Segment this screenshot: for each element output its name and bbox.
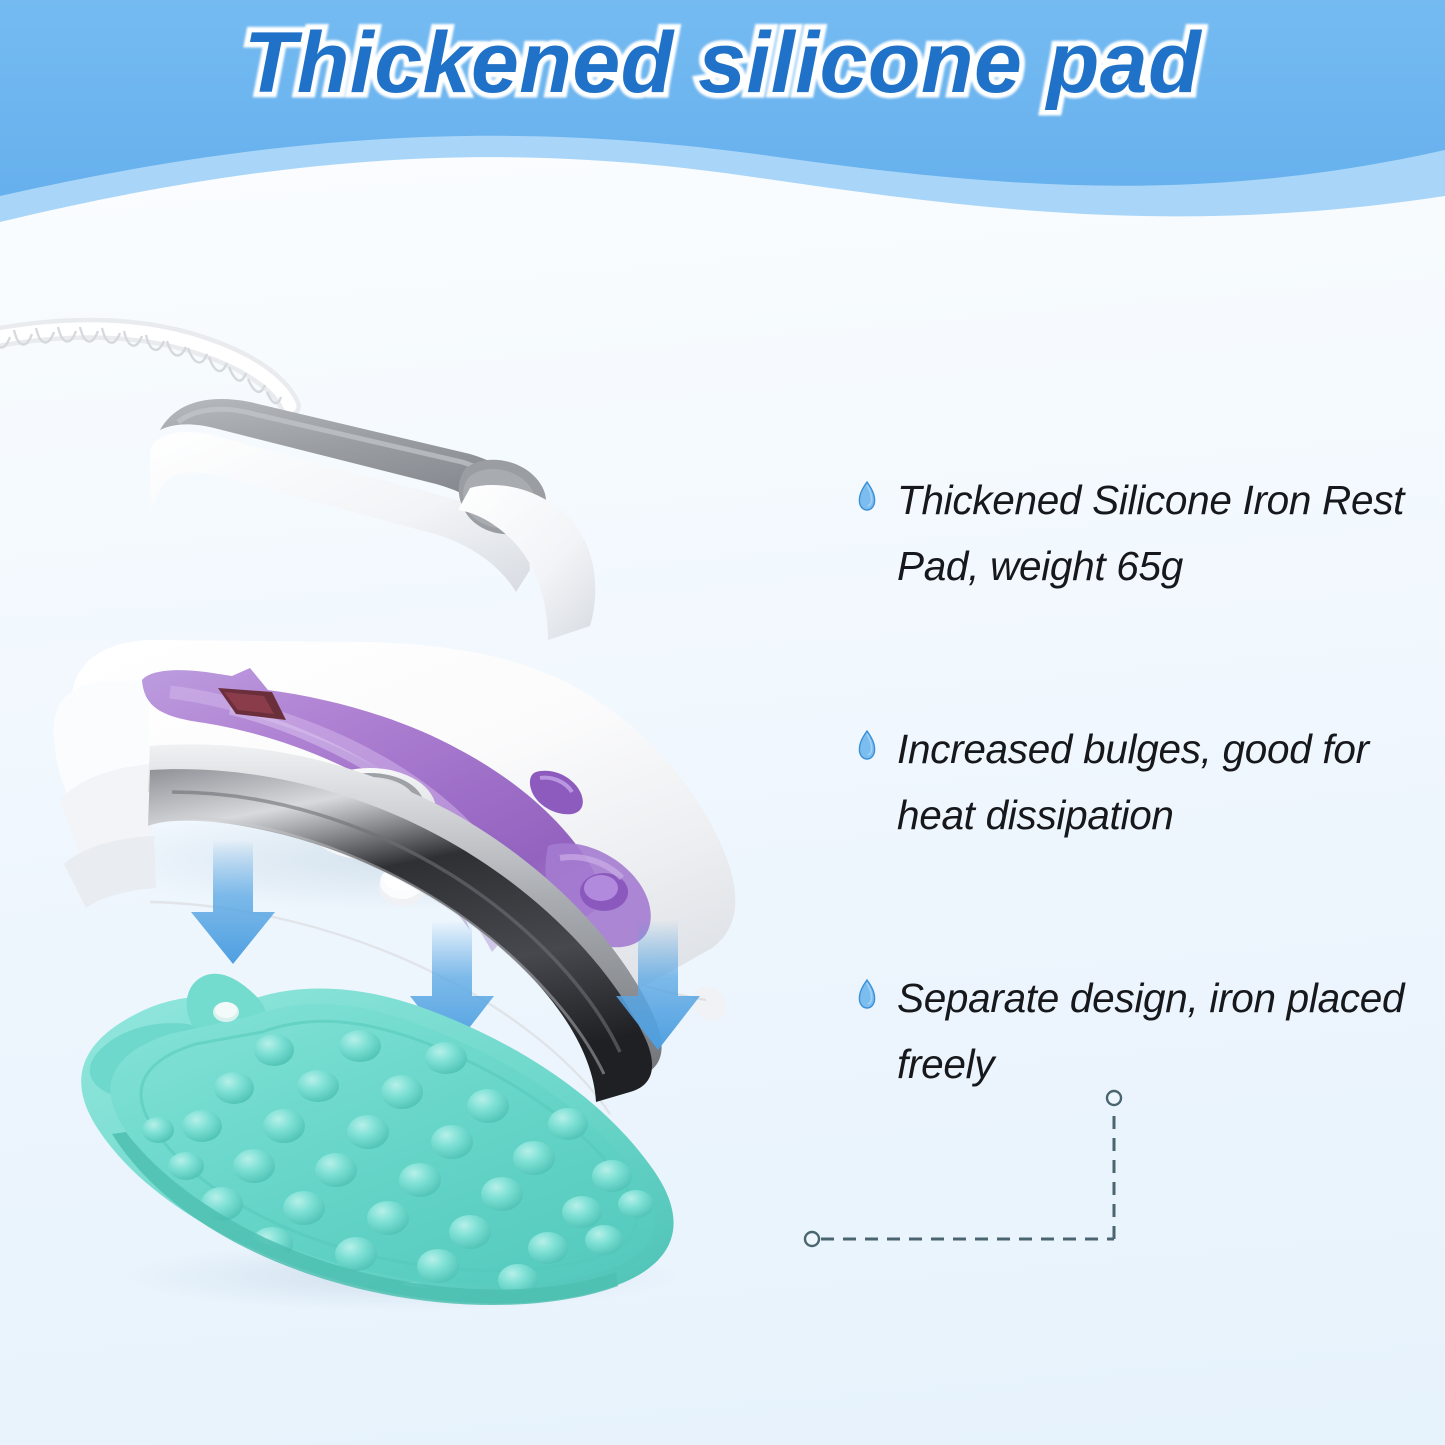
droplet-bullet-icon: [858, 481, 876, 511]
droplet-bullet-icon: [858, 730, 876, 760]
tip-button: [693, 987, 727, 1021]
feature-item-2: Increased bulges, good for heat dissipat…: [858, 717, 1428, 848]
feature-text-1: Thickened Silicone Iron Rest Pad, weight…: [897, 468, 1428, 599]
header-banner: Thickened silicone pad Thickened silicon…: [0, 0, 1445, 240]
feature-text-2: Increased bulges, good for heat dissipat…: [897, 717, 1428, 848]
droplet-bullet-icon: [858, 979, 876, 1009]
page-title: Thickened silicone pad: [0, 14, 1445, 113]
power-cord: [0, 327, 290, 406]
pad-hanging-hole: [213, 1002, 239, 1022]
product-image-stage: [0, 240, 880, 1445]
product-infographic: Thickened silicone pad Thickened silicon…: [0, 0, 1445, 1445]
feature-item-1: Thickened Silicone Iron Rest Pad, weight…: [858, 468, 1428, 599]
callout-endpoint-top: [1107, 1091, 1121, 1105]
dimension-callout: [780, 1070, 1200, 1310]
callout-endpoint-left: [805, 1232, 819, 1246]
feature-list: Thickened Silicone Iron Rest Pad, weight…: [858, 468, 1428, 1098]
